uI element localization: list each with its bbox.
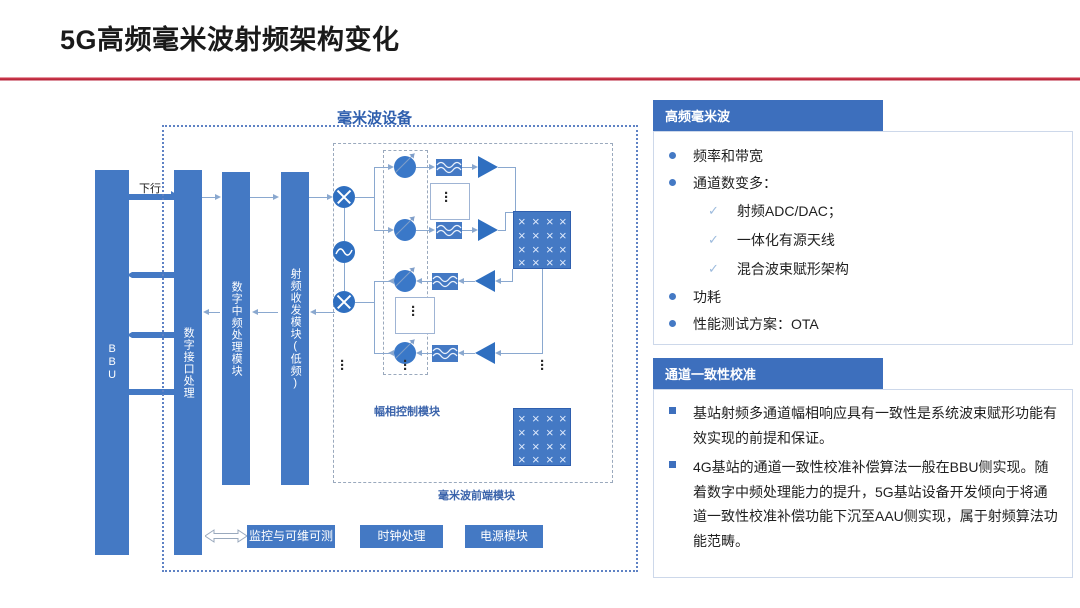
phase-shifter-arrow-tx1 — [392, 150, 418, 176]
check-icon: ✓ — [708, 233, 719, 246]
device-boundary-vertical — [162, 125, 164, 572]
bottom-box-power[interactable]: 电源模块 — [465, 525, 543, 548]
bullet-dot-icon — [669, 179, 676, 186]
connector-rf-fwd — [250, 197, 274, 198]
check-icon: ✓ — [708, 204, 719, 217]
connector-rx2-ant-up — [542, 269, 543, 353]
connector-rf-rev-head — [252, 309, 258, 315]
connector-osc-up — [344, 208, 345, 241]
connector-tx1-ant — [498, 167, 516, 168]
diagram-gap-mask-1 — [129, 200, 174, 272]
monitor-bidirectional-arrow — [205, 528, 247, 544]
block-bbu-label: BBU — [106, 343, 118, 382]
bottom-box-clock-label: 时钟处理 — [377, 530, 425, 543]
list-item[interactable]: 频率和带宽 — [669, 146, 1059, 167]
amplitude-phase-label: 幅相控制模块 — [374, 403, 440, 419]
check-icon: ✓ — [708, 262, 719, 275]
tx-split-bus — [374, 167, 375, 230]
rx1-head-left — [388, 278, 394, 284]
connector-rf-rev — [256, 312, 278, 313]
vertical-ellipsis-icon-mid: ··· — [403, 360, 408, 372]
connector-tx1-filter-head — [429, 164, 435, 170]
connector-if-fwd — [202, 197, 216, 198]
connector-rx2-amp-head — [458, 350, 464, 356]
diagram-gap-mask-4 — [129, 395, 174, 555]
tx-split-stem — [355, 197, 375, 198]
connector-rx1-ant-up — [512, 269, 513, 281]
bottom-box-power-label: 电源模块 — [480, 530, 528, 543]
list-item[interactable]: ✓ 一体化有源天线 — [708, 230, 1058, 251]
phase-shifter-arrow-tx2 — [392, 213, 418, 239]
diagram-gap-mask-3 — [129, 338, 174, 389]
block-digital-if[interactable]: 数字中频处理模块 — [222, 172, 250, 485]
connector-mixer-rev-head — [310, 309, 316, 315]
connector-tx2-filter-head — [429, 227, 435, 233]
connector-tx2-filter — [416, 230, 430, 231]
bullet-dot-icon — [669, 152, 676, 159]
antenna-array-icon-1: ×× ×× ×× ×× ×× ×× ×× ×× — [513, 211, 571, 269]
filter-icon-tx2 — [436, 222, 462, 239]
block-digital-interface[interactable]: 数字接口处理 — [174, 170, 202, 555]
list-item[interactable]: ✓ 混合波束赋形架构 — [708, 259, 1058, 280]
mmwave-frontend-boundary — [333, 143, 613, 483]
local-oscillator-icon — [333, 241, 355, 263]
list-item-label: 功耗 — [693, 287, 721, 308]
bullet-dot-icon — [669, 320, 676, 327]
connector-if-fwd-head — [215, 194, 221, 200]
connector-tx1-filter — [416, 167, 430, 168]
vertical-ellipsis-icon-left: ··· — [340, 360, 345, 372]
list-item[interactable]: ✓ 射频ADC/DAC； — [708, 201, 1058, 222]
block-rf-transceiver[interactable]: 射频收发模块(低频) — [281, 172, 309, 485]
list-item[interactable]: 性能测试方案：OTA — [669, 314, 1059, 335]
panel-channel-calibration: 通道一致性校准 基站射频多通道幅相响应具有一致性是系统波束赋形功能有效实现的前提… — [653, 358, 1073, 578]
list-item[interactable]: 功耗 — [669, 287, 1059, 308]
amplifier-icon-rx1 — [475, 270, 495, 292]
bullet-dot-icon — [669, 293, 676, 300]
mmwave-frontend-label: 毫米波前端模块 — [438, 487, 515, 503]
bullet-square-icon — [669, 461, 676, 468]
bottom-box-monitor-label: 监控与可维可测 — [249, 530, 333, 543]
diagram-gap-mask-2 — [129, 278, 174, 332]
list-item[interactable]: 通道数变多： — [669, 173, 1059, 194]
antenna-array-icon-2: ×× ×× ×× ×× ×× ×× ×× ×× — [513, 408, 571, 466]
block-digital-interface-label: 数字接口处理 — [182, 327, 194, 399]
panel-high-freq-mmwave: 高频毫米波 频率和带宽 通道数变多： ✓ 射频ADC/DAC； ✓ 一体化有源天… — [653, 100, 1073, 345]
bullet-square-icon — [669, 407, 676, 414]
connector-if-rev-head — [203, 309, 209, 315]
block-digital-if-label: 数字中频处理模块 — [230, 281, 242, 377]
page-title: 5G高频毫米波射频架构变化 — [60, 18, 400, 57]
list-item-label: 混合波束赋形架构 — [737, 259, 849, 280]
connector-tx2-ant — [498, 230, 506, 231]
block-rf-transceiver-label: 射频收发模块(低频) — [289, 268, 301, 390]
connector-osc-down — [344, 263, 345, 291]
list-item[interactable]: 基站射频多通道幅相响应具有一致性是系统波束赋形功能有效实现的前提和保证。 — [669, 401, 1061, 450]
panel-channel-calibration-title: 通道一致性校准 — [653, 358, 883, 389]
list-item-label: 基站射频多通道幅相响应具有一致性是系统波束赋形功能有效实现的前提和保证。 — [693, 401, 1061, 450]
bottom-box-monitor[interactable]: 监控与可维可测 — [247, 525, 335, 548]
amplifier-icon-rx2 — [475, 342, 495, 364]
list-item[interactable]: 4G基站的通道一致性校准补偿算法一般在BBU侧实现。随着数字中频处理能力的提升，… — [669, 455, 1061, 553]
mixer-icon-tx — [333, 186, 355, 208]
vertical-ellipsis-icon-right: ··· — [540, 360, 545, 372]
vertical-ellipsis-icon-rx: ··· — [411, 306, 416, 318]
panel-high-freq-mmwave-title: 高频毫米波 — [653, 100, 883, 131]
block-bbu[interactable]: BBU — [95, 170, 129, 555]
list-item-label: 射频ADC/DAC； — [737, 201, 842, 222]
connector-tx2-ant-up — [505, 212, 506, 230]
connector-mixer-rev — [313, 312, 335, 313]
amplifier-icon-tx2 — [478, 219, 498, 241]
connector-mixer-fwd — [309, 197, 329, 198]
phase-shifter-arrow-rx1 — [392, 264, 418, 290]
list-item-label: 一体化有源天线 — [737, 230, 835, 251]
panel-channel-calibration-body: 基站射频多通道幅相响应具有一致性是系统波束赋形功能有效实现的前提和保证。 4G基… — [653, 389, 1073, 578]
bottom-box-clock[interactable]: 时钟处理 — [360, 525, 443, 548]
rx-merge-bus — [374, 281, 375, 353]
mixer-icon-rx — [333, 291, 355, 313]
filter-icon-rx1 — [432, 273, 458, 290]
list-item-label: 性能测试方案：OTA — [693, 314, 819, 335]
filter-icon-rx2 — [432, 345, 458, 362]
rx-merge-stem — [355, 302, 375, 303]
connector-rx1-ant-head — [495, 278, 501, 284]
connector-rx2-ant-head — [495, 350, 501, 356]
connector-rx1-amp-head — [458, 278, 464, 284]
connector-rx2-ant — [497, 353, 543, 354]
list-item-label: 通道数变多： — [693, 173, 777, 194]
list-item-label: 频率和带宽 — [693, 146, 763, 167]
tx-ellipsis-box — [430, 183, 470, 220]
connector-rx2-filter-head — [416, 350, 422, 356]
panel-high-freq-mmwave-body: 频率和带宽 通道数变多： ✓ 射频ADC/DAC； ✓ 一体化有源天线 ✓ 混合… — [653, 131, 1073, 345]
amplifier-icon-tx1 — [478, 156, 498, 178]
connector-rf-fwd-head — [273, 194, 279, 200]
list-item-label: 4G基站的通道一致性校准补偿算法一般在BBU侧实现。随着数字中频处理能力的提升，… — [693, 455, 1061, 553]
filter-icon-tx1 — [436, 159, 462, 176]
title-divider-rule — [0, 77, 1080, 81]
rx2-head-left — [388, 350, 394, 356]
vertical-ellipsis-icon-tx: ··· — [444, 192, 449, 204]
connector-rx1-filter-head — [416, 278, 422, 284]
